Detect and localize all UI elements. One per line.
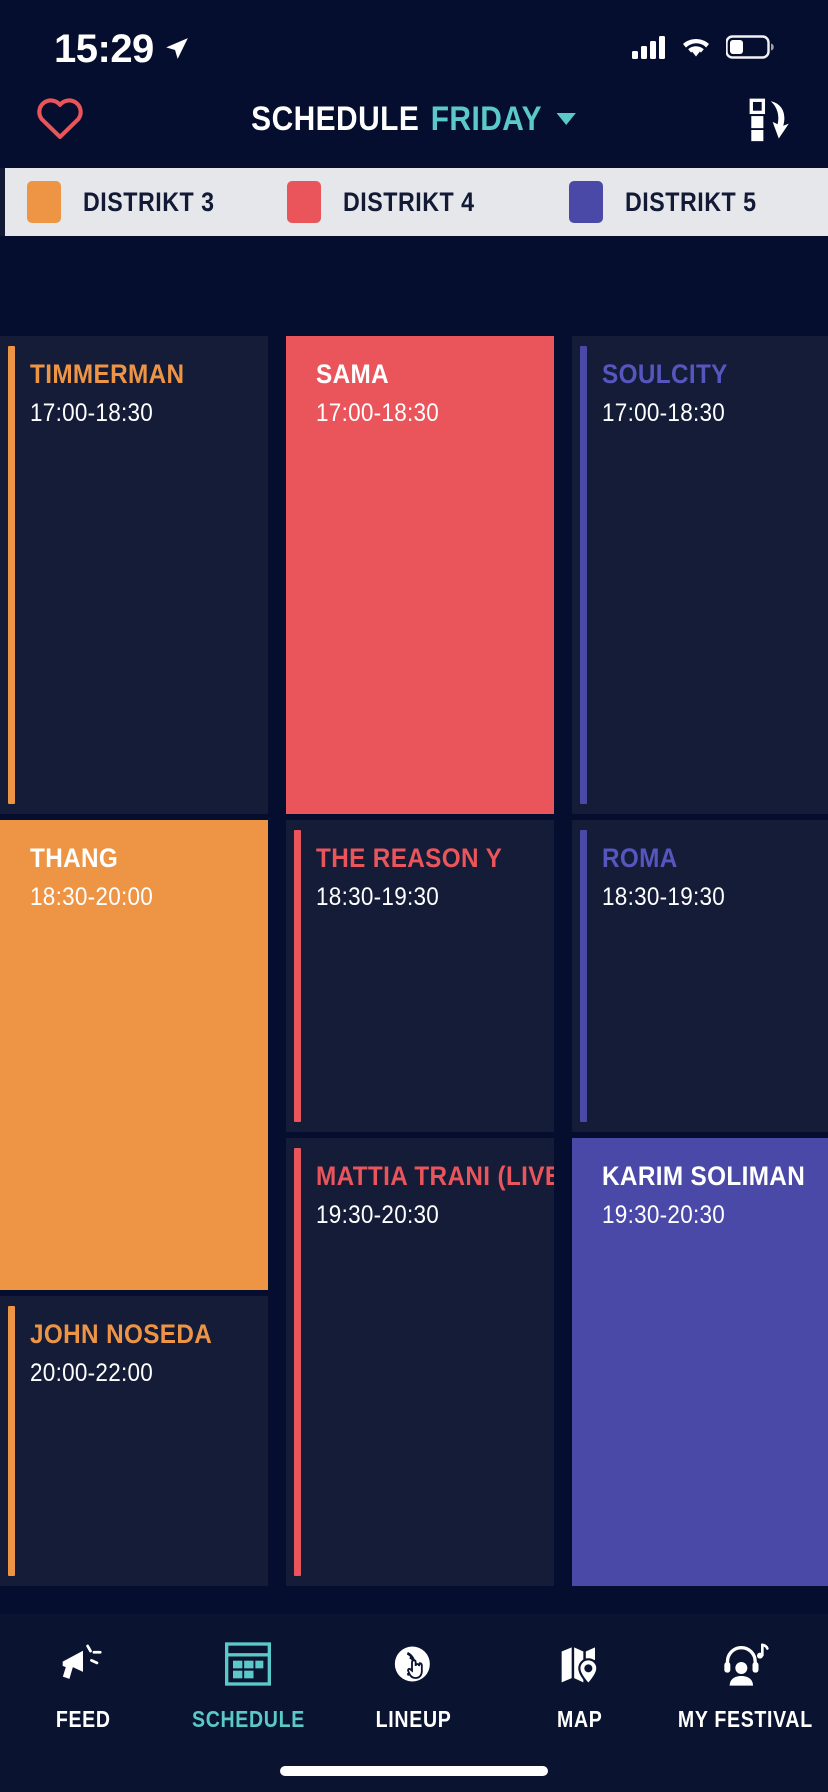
tab-my-festival[interactable]: MY FESTIVAL bbox=[662, 1636, 828, 1733]
home-indicator bbox=[280, 1766, 548, 1776]
district-legend-wrapper: DISTRIKT 3 DISTRIKT 4 DISTRIKT 5 bbox=[0, 160, 828, 236]
event-time: 19:30-20:30 bbox=[602, 1201, 816, 1230]
event-title: KARIM SOLIMAN bbox=[602, 1162, 816, 1190]
event-time: 17:00-18:30 bbox=[602, 399, 816, 428]
event-card[interactable]: SAMA 17:00-18:30 bbox=[286, 336, 554, 814]
legend-swatch-red bbox=[287, 181, 321, 223]
megaphone-icon bbox=[56, 1636, 110, 1692]
event-card[interactable]: KARIM SOLIMAN 19:30-20:30 bbox=[572, 1138, 828, 1586]
event-card[interactable]: ROMA 18:30-19:30 bbox=[572, 820, 828, 1132]
event-title: ROMA bbox=[602, 844, 816, 872]
tab-label: SCHEDULE bbox=[192, 1706, 305, 1733]
event-title: MATTIA TRANI (LIVE) bbox=[316, 1162, 530, 1190]
event-color-bar bbox=[580, 830, 587, 1122]
status-bar-clock: 15:29 bbox=[54, 27, 154, 72]
tab-label: FEED bbox=[55, 1706, 110, 1733]
event-time: 20:00-22:00 bbox=[30, 1359, 244, 1388]
map-pin-icon bbox=[554, 1636, 606, 1692]
event-card[interactable]: MATTIA TRANI (LIVE) 19:30-20:30 bbox=[286, 1138, 554, 1586]
bottom-tab-bar: FEED SCHEDULE LINEUP bbox=[0, 1614, 828, 1792]
legend-swatch-orange bbox=[27, 181, 61, 223]
page-title-main: SCHEDULE bbox=[251, 100, 419, 139]
event-title: SAMA bbox=[316, 360, 530, 388]
event-color-bar bbox=[8, 1306, 15, 1576]
status-bar-indicators bbox=[632, 35, 774, 64]
wifi-icon bbox=[680, 35, 712, 64]
event-card[interactable]: SOULCITY 17:00-18:30 bbox=[572, 336, 828, 814]
location-arrow-icon bbox=[164, 27, 190, 72]
event-color-bar bbox=[294, 830, 301, 1122]
cellular-bars-icon bbox=[632, 35, 666, 64]
legend-item-distrikt-5[interactable]: DISTRIKT 5 bbox=[569, 181, 828, 223]
legend-item-distrikt-4[interactable]: DISTRIKT 4 bbox=[287, 181, 569, 223]
legend-label: DISTRIKT 4 bbox=[343, 187, 475, 218]
event-time: 18:30-19:30 bbox=[316, 883, 530, 912]
tab-label: MAP bbox=[557, 1706, 602, 1733]
event-color-bar bbox=[580, 346, 587, 804]
status-bar-time-group: 15:29 bbox=[54, 27, 190, 72]
tab-schedule[interactable]: SCHEDULE bbox=[166, 1636, 332, 1733]
legend-label: DISTRIKT 3 bbox=[83, 187, 215, 218]
event-title: THANG bbox=[30, 844, 244, 872]
event-title: SOULCITY bbox=[602, 360, 816, 388]
calendar-grid-icon bbox=[222, 1636, 274, 1692]
filter-button[interactable] bbox=[736, 87, 800, 151]
event-color-bar bbox=[8, 346, 15, 804]
tab-lineup[interactable]: LINEUP bbox=[331, 1636, 497, 1733]
event-title: TIMMERMAN bbox=[30, 360, 244, 388]
event-card[interactable]: THE REASON Y 18:30-19:30 bbox=[286, 820, 554, 1132]
event-time: 19:30-20:30 bbox=[316, 1201, 530, 1230]
heart-outline-icon bbox=[34, 93, 86, 146]
district-legend-bar[interactable]: DISTRIKT 3 DISTRIKT 4 DISTRIKT 5 bbox=[0, 168, 828, 236]
tab-label: LINEUP bbox=[376, 1706, 452, 1733]
event-time: 17:00-18:30 bbox=[316, 399, 530, 428]
status-bar: 15:29 bbox=[0, 0, 828, 78]
event-color-bar bbox=[294, 1148, 301, 1576]
headphones-person-icon bbox=[718, 1636, 772, 1692]
tab-map[interactable]: MAP bbox=[497, 1636, 663, 1733]
legend-swatch-blue bbox=[569, 181, 603, 223]
event-card[interactable]: JOHN NOSEDA 20:00-22:00 bbox=[0, 1296, 268, 1586]
battery-low-icon bbox=[726, 35, 774, 64]
app-header: SCHEDULE FRIDAY bbox=[0, 78, 828, 160]
tab-label: MY FESTIVAL bbox=[678, 1706, 813, 1733]
event-time: 17:00-18:30 bbox=[30, 399, 244, 428]
favorites-button[interactable] bbox=[28, 87, 92, 151]
legend-label: DISTRIKT 5 bbox=[625, 187, 757, 218]
list-arrow-icon bbox=[742, 91, 794, 148]
chevron-down-icon bbox=[557, 113, 576, 125]
event-card[interactable]: TIMMERMAN 17:00-18:30 bbox=[0, 336, 268, 814]
event-time: 18:30-20:00 bbox=[30, 883, 244, 912]
event-title: THE REASON Y bbox=[316, 844, 530, 872]
schedule-grid[interactable]: TIMMERMAN 17:00-18:30 THANG 18:30-20:00 … bbox=[0, 336, 828, 1586]
page-title-day: FRIDAY bbox=[431, 100, 542, 139]
legend-item-distrikt-3[interactable]: DISTRIKT 3 bbox=[5, 181, 287, 223]
tab-feed[interactable]: FEED bbox=[0, 1636, 166, 1733]
event-title: JOHN NOSEDA bbox=[30, 1320, 244, 1348]
event-card[interactable]: THANG 18:30-20:00 bbox=[0, 820, 268, 1290]
event-time: 18:30-19:30 bbox=[602, 883, 816, 912]
page-title[interactable]: SCHEDULE FRIDAY bbox=[251, 100, 576, 139]
vinyl-hand-icon bbox=[388, 1636, 440, 1692]
